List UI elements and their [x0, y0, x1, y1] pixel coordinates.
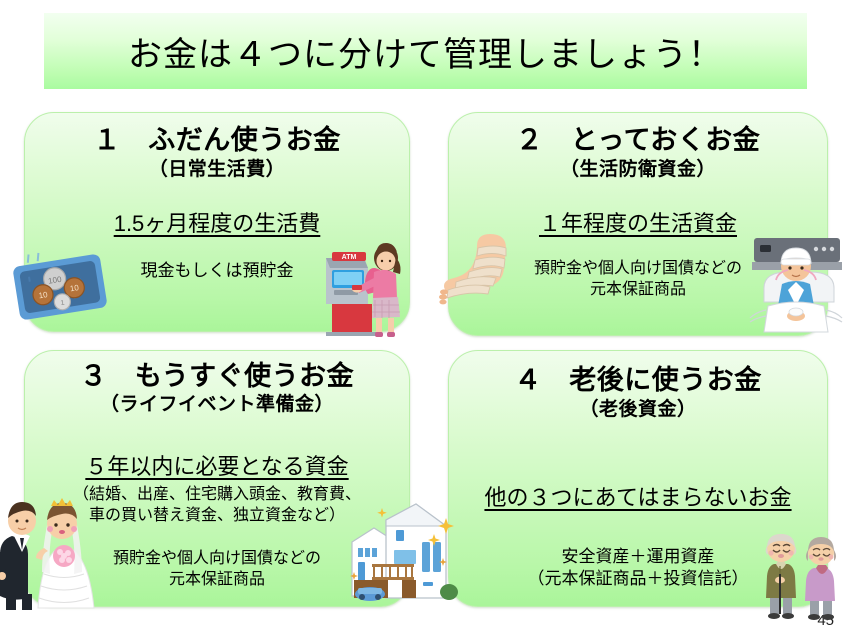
box-2-highlight: １年程度の生活資金 [449, 182, 827, 238]
page-title: お金は４つに分けて管理しましょう！ [128, 27, 723, 76]
box-4-heading: ４ 老後に使うお金 [449, 351, 827, 395]
box-3-heading: ３ もうすぐ使うお金 [25, 351, 409, 391]
box-3-detail-line-1: （結婚、出産、住宅購入頭金、教育費、 [25, 481, 409, 505]
box-4-note-line-1: 安全資産＋運用資産 [449, 512, 827, 568]
box-2-note-line-1: 預貯金や個人向け国債などの [449, 238, 827, 279]
box-4-subheading: （老後資金） [449, 395, 827, 422]
box-1-highlight: 1.5ヶ月程度の生活費 [25, 182, 409, 238]
money-category-box-2: ２ とっておくお金 （生活防衛資金） １年程度の生活資金 預貯金や個人向け国債な… [448, 112, 828, 336]
box-3-note-line-1: 預貯金や個人向け国債などの [25, 526, 409, 569]
box-3-content: ３ もうすぐ使うお金 （ライフイベント準備金） ５年以内に必要となる資金 （結婚… [25, 351, 409, 606]
box-2-subheading: （生活防衛資金） [449, 155, 827, 182]
box-3-detail-line-2: 車の買い替え資金、独立資金など） [25, 505, 409, 526]
box-2-content: ２ とっておくお金 （生活防衛資金） １年程度の生活資金 預貯金や個人向け国債な… [449, 113, 827, 335]
box-3-note-line-2: 元本保証商品 [25, 569, 409, 590]
box-4-highlight: 他の３つにあてはまらないお金 [449, 422, 827, 512]
box-1-note-line-1: 現金もしくは預貯金 [25, 238, 409, 282]
page-number: 45 [817, 612, 834, 629]
box-2-note-line-2: 元本保証商品 [449, 279, 827, 300]
box-4-note-line-2: （元本保証商品＋投資信託） [449, 568, 827, 590]
slide-title-banner: お金は４つに分けて管理しましょう！ [44, 13, 807, 89]
money-category-box-4: ４ 老後に使うお金 （老後資金） 他の３つにあてはまらないお金 安全資産＋運用資… [448, 350, 828, 607]
box-1-subheading: （日常生活費） [25, 155, 409, 182]
box-2-heading: ２ とっておくお金 [449, 113, 827, 155]
money-category-box-1: １ ふだん使うお金 （日常生活費） 1.5ヶ月程度の生活費 現金もしくは預貯金 [24, 112, 410, 332]
box-3-subheading: （ライフイベント準備金） [25, 391, 409, 417]
box-1-content: １ ふだん使うお金 （日常生活費） 1.5ヶ月程度の生活費 現金もしくは預貯金 [25, 113, 409, 331]
box-3-highlight: ５年以内に必要となる資金 [25, 417, 409, 481]
box-1-heading: １ ふだん使うお金 [25, 113, 409, 155]
box-4-content: ４ 老後に使うお金 （老後資金） 他の３つにあてはまらないお金 安全資産＋運用資… [449, 351, 827, 606]
money-category-box-3: ３ もうすぐ使うお金 （ライフイベント準備金） ５年以内に必要となる資金 （結婚… [24, 350, 410, 607]
